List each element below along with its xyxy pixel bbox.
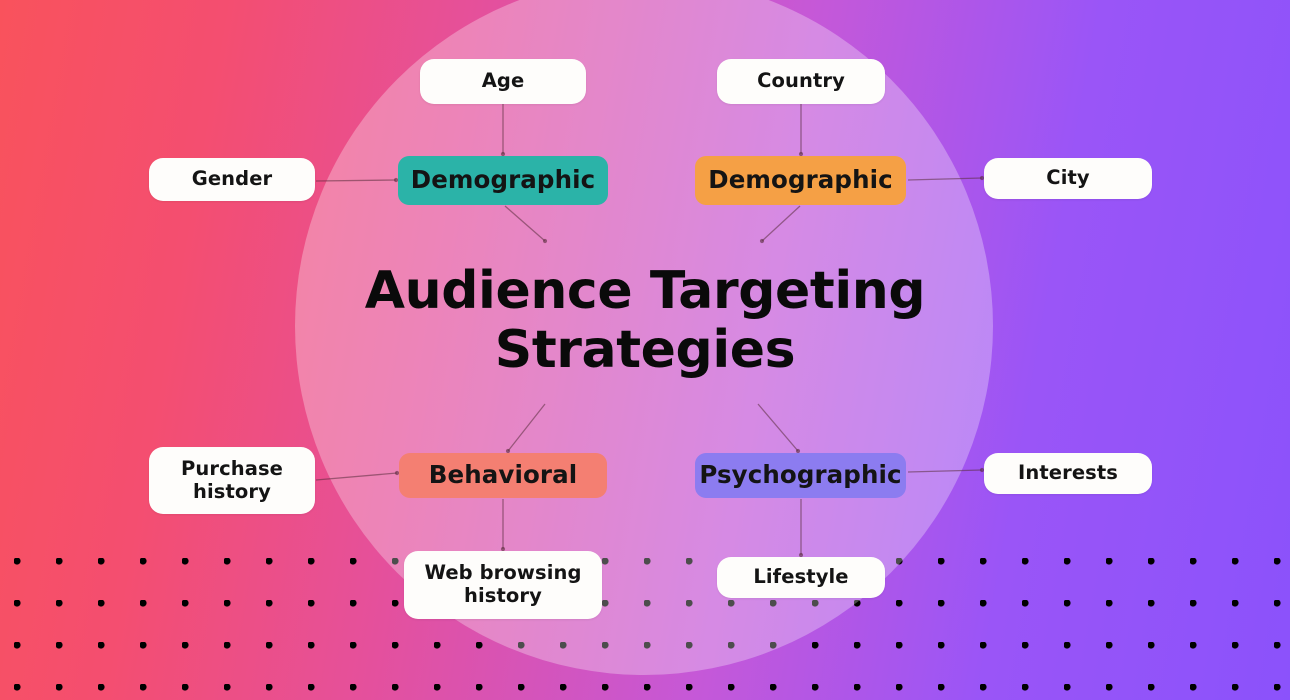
mindmap-canvas: AgeGenderDemographicCountryCityDemograph…	[0, 0, 1290, 700]
page-title: Audience Targeting Strategies	[330, 262, 960, 380]
connector-endpoint-demographic-orange-to-center	[760, 239, 764, 243]
leaf-node-lifestyle[interactable]: Lifestyle	[717, 557, 885, 598]
connector-interests-to-psychographic	[908, 470, 982, 472]
branch-node-psychographic[interactable]: Psychographic	[695, 453, 906, 498]
connector-gender-to-demographic-teal	[316, 180, 396, 181]
connector-demographic-orange-to-center	[762, 206, 800, 241]
leaf-node-web-browsing-history[interactable]: Web browsing history	[404, 551, 602, 619]
leaf-node-age[interactable]: Age	[420, 59, 586, 104]
leaf-node-gender[interactable]: Gender	[149, 158, 315, 201]
connector-center-to-behavioral	[508, 404, 545, 451]
connector-endpoint-demographic-teal-to-center	[543, 239, 547, 243]
connector-demographic-teal-to-center	[505, 206, 545, 241]
leaf-node-city[interactable]: City	[984, 158, 1152, 199]
leaf-node-country[interactable]: Country	[717, 59, 885, 104]
branch-node-behavioral[interactable]: Behavioral	[399, 453, 607, 498]
branch-node-demographic-orange[interactable]: Demographic	[695, 156, 906, 205]
leaf-node-purchase-history[interactable]: Purchase history	[149, 447, 315, 514]
branch-node-demographic-teal[interactable]: Demographic	[398, 156, 608, 205]
connector-center-to-psychographic	[758, 404, 798, 451]
connector-purchase-to-behavioral	[316, 473, 397, 480]
connector-city-to-demographic-orange	[908, 178, 982, 180]
leaf-node-interests[interactable]: Interests	[984, 453, 1152, 494]
